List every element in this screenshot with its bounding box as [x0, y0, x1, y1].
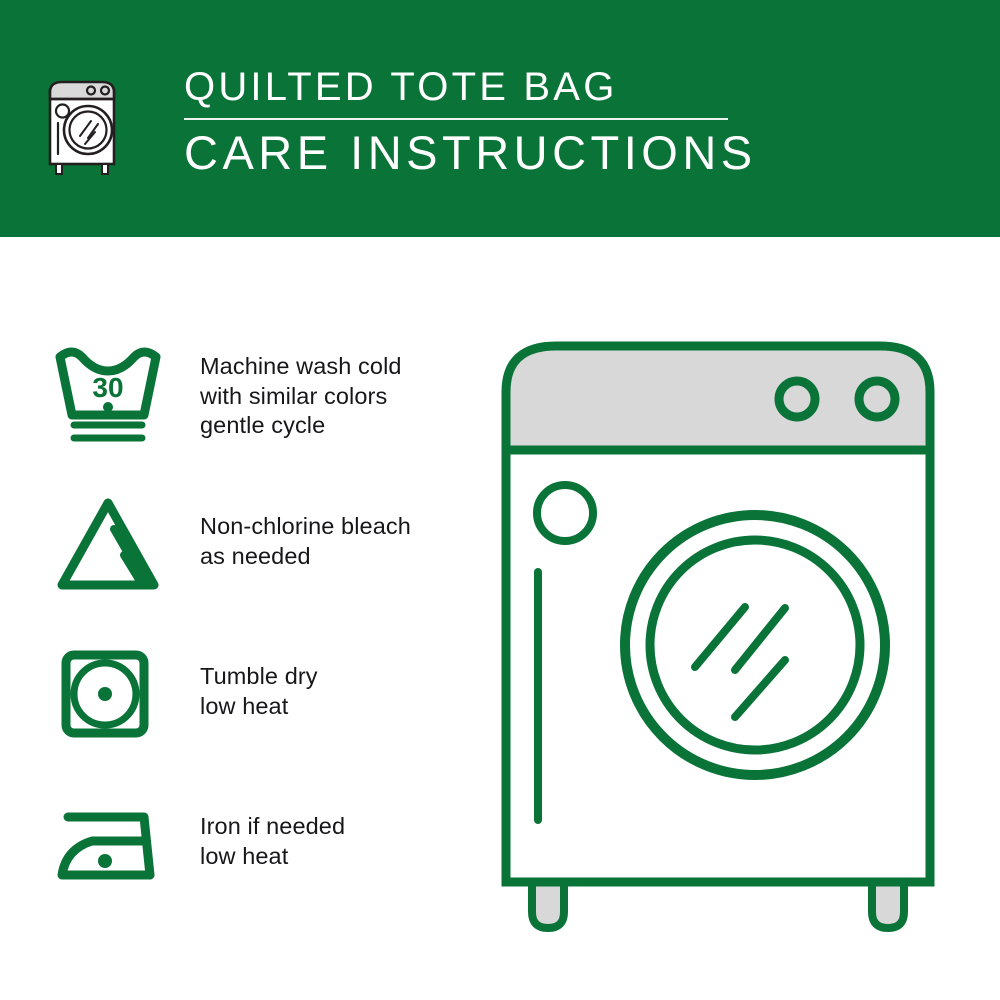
- care-line: Iron if needed: [200, 812, 345, 842]
- care-text-tumble-dry: Tumble dry low heat: [200, 640, 318, 721]
- care-line: low heat: [200, 692, 318, 722]
- care-row-machine-wash: 30 Machine wash cold with similar colors…: [48, 340, 478, 490]
- machine-wash-30-gentle-symbol: 30: [48, 340, 168, 450]
- care-text-machine-wash: Machine wash cold with similar colors ge…: [200, 340, 402, 441]
- product-title: QUILTED TOTE BAG: [184, 62, 744, 112]
- header-title-block: QUILTED TOTE BAG CARE INSTRUCTIONS: [184, 62, 744, 182]
- care-row-bleach: Non-chlorine bleach as needed: [48, 490, 478, 640]
- care-row-tumble-dry: Tumble dry low heat: [48, 640, 478, 790]
- machine-body: [506, 450, 930, 882]
- page-title: CARE INSTRUCTIONS: [184, 124, 744, 182]
- iron-low-heat-symbol: [48, 790, 168, 900]
- care-text-iron: Iron if needed low heat: [200, 790, 345, 871]
- care-line: low heat: [200, 842, 345, 872]
- care-line: with similar colors: [200, 382, 402, 412]
- care-row-iron: Iron if needed low heat: [48, 790, 478, 940]
- care-symbol-list: 30 Machine wash cold with similar colors…: [48, 340, 478, 940]
- tumble-dry-low-heat-symbol: [48, 640, 168, 750]
- non-chlorine-bleach-symbol: [48, 490, 168, 600]
- care-line: Non-chlorine bleach: [200, 512, 411, 542]
- header-content: QUILTED TOTE BAG CARE INSTRUCTIONS: [44, 62, 964, 192]
- title-divider: [184, 118, 728, 120]
- care-line: Machine wash cold: [200, 352, 402, 382]
- care-line: gentle cycle: [200, 411, 402, 441]
- machine-control-panel: [506, 346, 930, 450]
- care-text-bleach: Non-chlorine bleach as needed: [200, 490, 411, 571]
- header-banner: QUILTED TOTE BAG CARE INSTRUCTIONS: [0, 0, 1000, 237]
- care-instructions-infographic: QUILTED TOTE BAG CARE INSTRUCTIONS 30: [0, 0, 1000, 1000]
- care-line: as needed: [200, 542, 411, 572]
- wash-temperature-label: 30: [92, 372, 123, 403]
- washing-machine-icon: [44, 66, 128, 178]
- care-line: Tumble dry: [200, 662, 318, 692]
- washing-machine-illustration: [480, 320, 980, 950]
